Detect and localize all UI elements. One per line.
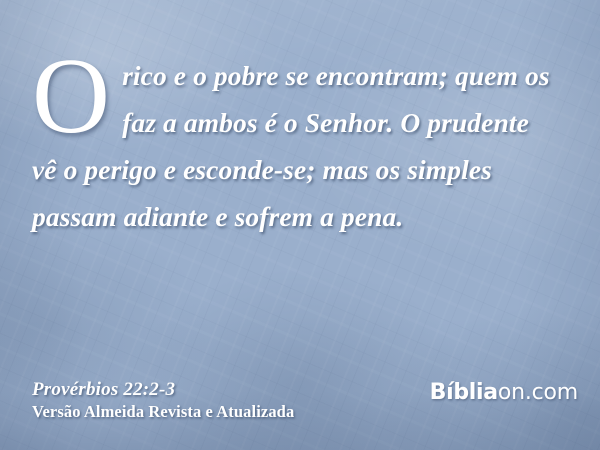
verse-reference: Provérbios 22:2-3 <box>32 378 294 401</box>
verse-text: Orico e o pobre se encontram; quem os fa… <box>32 52 556 240</box>
attribution-block: Provérbios 22:2-3 Versão Almeida Revista… <box>32 378 294 423</box>
logo-domain-text: on.com <box>498 380 578 405</box>
verse-dropcap: O <box>32 54 110 140</box>
logo-brand-text: Bíblia <box>430 380 498 405</box>
card-footer: Provérbios 22:2-3 Versão Almeida Revista… <box>0 378 600 436</box>
bible-version: Versão Almeida Revista e Atualizada <box>32 401 294 423</box>
verse-card: Orico e o pobre se encontram; quem os fa… <box>0 0 600 450</box>
bibliaon-logo[interactable]: Bíbliaon.com <box>430 380 578 406</box>
